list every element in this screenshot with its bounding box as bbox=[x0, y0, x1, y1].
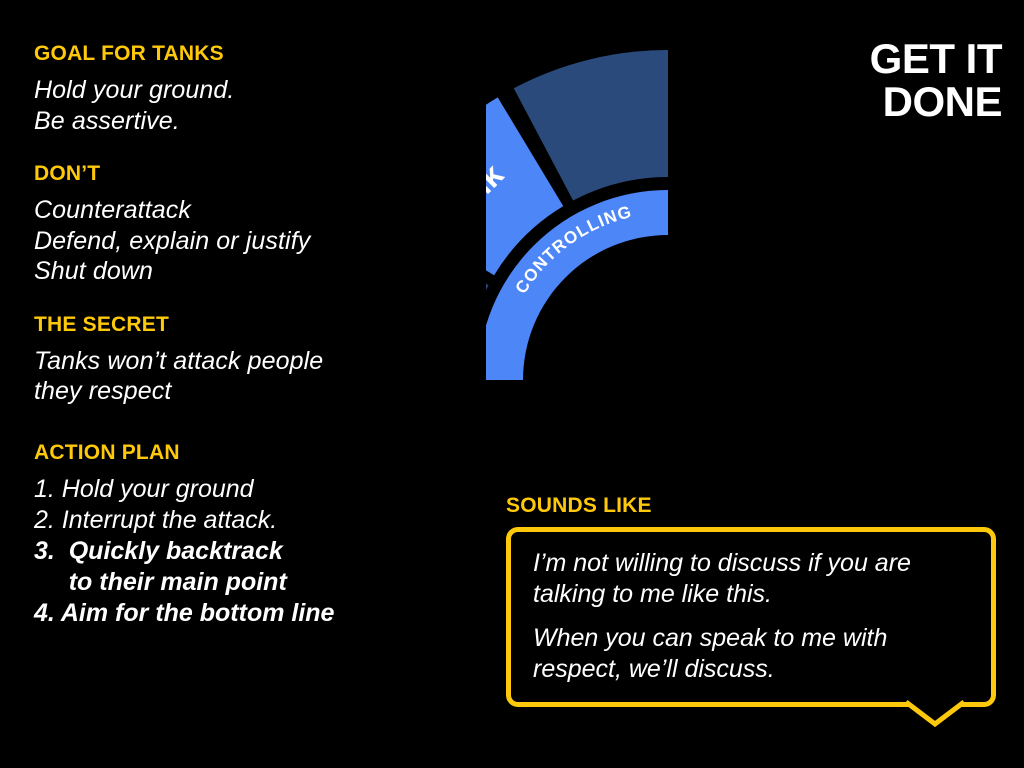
action-plan-heading: ACTION PLAN bbox=[34, 441, 454, 464]
dont-heading: DON’T bbox=[34, 162, 454, 185]
slide-title-line-1: GET IT bbox=[870, 38, 1002, 81]
dont-line-1: Counterattack bbox=[34, 195, 454, 226]
dont-line-2: Defend, explain or justify bbox=[34, 226, 454, 257]
action-plan-item: 2. Interrupt the attack. bbox=[34, 505, 454, 536]
sounds-like-quote-1: I’m not willing to discuss if you are ta… bbox=[533, 548, 969, 609]
controlling-quadrant-wheel: CONTROLLING Tank bbox=[486, 22, 866, 397]
dont-line-3: Shut down bbox=[34, 256, 454, 287]
sounds-like-section: SOUNDS LIKE I’m not willing to discuss i… bbox=[506, 494, 1006, 707]
action-plan-item: to their main point bbox=[34, 567, 454, 598]
slide-title: GET IT DONE bbox=[870, 38, 1002, 124]
action-plan-section: ACTION PLAN 1. Hold your ground 2. Inter… bbox=[34, 441, 454, 629]
action-plan-item: 3. Quickly backtrack bbox=[34, 536, 454, 567]
sounds-like-heading: SOUNDS LIKE bbox=[506, 494, 1006, 517]
secret-line-2: they respect bbox=[34, 376, 454, 407]
goal-line-1: Hold your ground. bbox=[34, 75, 454, 106]
left-content-column: GOAL FOR TANKS Hold your ground. Be asse… bbox=[34, 42, 454, 629]
wheel-svg: CONTROLLING Tank bbox=[486, 22, 866, 397]
goal-section: GOAL FOR TANKS Hold your ground. Be asse… bbox=[34, 42, 454, 136]
speech-bubble: I’m not willing to discuss if you are ta… bbox=[506, 527, 996, 707]
slide-canvas: GOAL FOR TANKS Hold your ground. Be asse… bbox=[0, 0, 1024, 768]
secret-section: THE SECRET Tanks won’t attack people the… bbox=[34, 313, 454, 407]
speech-bubble-wrapper: I’m not willing to discuss if you are ta… bbox=[506, 527, 996, 707]
dont-section: DON’T Counterattack Defend, explain or j… bbox=[34, 162, 454, 287]
secret-line-1: Tanks won’t attack people bbox=[34, 346, 454, 377]
secret-heading: THE SECRET bbox=[34, 313, 454, 336]
action-plan-item: 1. Hold your ground bbox=[34, 474, 454, 505]
tail-shape bbox=[906, 702, 964, 724]
speech-bubble-tail-icon bbox=[904, 702, 966, 726]
slide-title-line-2: DONE bbox=[870, 81, 1002, 124]
sounds-like-quote-2: When you can speak to me with respect, w… bbox=[533, 623, 969, 684]
goal-line-2: Be assertive. bbox=[34, 106, 454, 137]
goal-heading: GOAL FOR TANKS bbox=[34, 42, 454, 65]
action-plan-item: 4. Aim for the bottom line bbox=[34, 598, 454, 629]
